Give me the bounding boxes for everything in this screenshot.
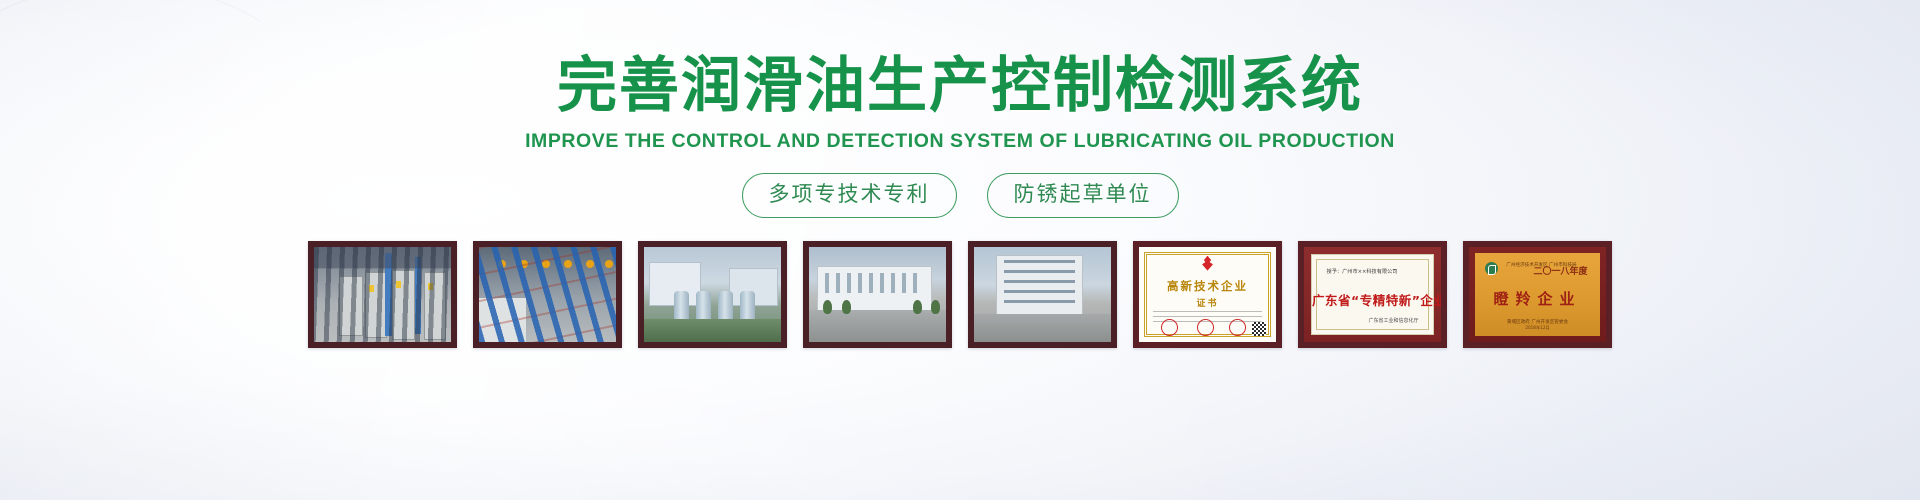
certificate-awarded-to: 授予：广州市××科技有限公司 xyxy=(1327,268,1419,275)
certificate-heading: 瞪羚企业 xyxy=(1475,288,1600,309)
badge-patents[interactable]: 多项专技术专利 xyxy=(742,173,957,218)
thumbnail-image xyxy=(314,247,451,342)
qr-code-icon xyxy=(1252,322,1266,336)
thumbnail-image xyxy=(974,247,1111,342)
certificate-subheading: 证书 xyxy=(1139,296,1276,309)
certificate-year: 二〇一八年度 xyxy=(1533,264,1587,277)
gallery-item-photo-factory-workshop[interactable] xyxy=(803,241,952,348)
certificate-issuer: 广东省工业和信息化厅 xyxy=(1368,317,1418,324)
gallery-item-photo-office-building[interactable] xyxy=(968,241,1117,348)
certificate-issue-date: 2018年12月 xyxy=(1475,325,1600,331)
development-zone-logo-icon xyxy=(1485,262,1498,275)
certificate-heading: 高新技术企业 xyxy=(1139,278,1276,294)
thumbnail-image xyxy=(479,247,616,342)
gallery-strip: 高新技术企业 证书 授予：广州市××科技有限公司 广东省“专精特新”企业 广东省… xyxy=(308,241,1612,348)
banner-badges: 多项专技术专利 防锈起草单位 xyxy=(742,173,1179,218)
certificate-heading: 广东省“专精特新”企业 xyxy=(1312,290,1433,309)
gallery-item-photo-storage-tanks[interactable] xyxy=(638,241,787,348)
plaque-plate: 授予：广州市××科技有限公司 广东省“专精特新”企业 广东省工业和信息化厅 xyxy=(1311,254,1434,335)
gallery-item-certificate-guangdong-specialized-new[interactable]: 授予：广州市××科技有限公司 广东省“专精特新”企业 广东省工业和信息化厅 xyxy=(1298,241,1447,348)
banner-subtitle: IMPROVE THE CONTROL AND DETECTION SYSTEM… xyxy=(525,130,1395,153)
certificate-image: 广州经济技术开发区 广州市科技局 二〇一八年度 瞪羚企业 黄埔区政府 广州开发区… xyxy=(1469,247,1606,342)
certificate-image: 高新技术企业 证书 xyxy=(1139,247,1276,342)
badge-antirust-standard[interactable]: 防锈起草单位 xyxy=(987,173,1179,218)
gallery-item-certificate-high-tech-enterprise[interactable]: 高新技术企业 证书 xyxy=(1133,241,1282,348)
thumbnail-image xyxy=(809,247,946,342)
banner-title: 完善润滑油生产控制检测系统 xyxy=(557,56,1363,116)
plaque-plate: 广州经济技术开发区 广州市科技局 二〇一八年度 瞪羚企业 黄埔区政府 广州开发区… xyxy=(1475,253,1600,336)
gallery-item-photo-production-control-cabinets[interactable] xyxy=(308,241,457,348)
hero-banner: 完善润滑油生产控制检测系统 IMPROVE THE CONTROL AND DE… xyxy=(0,0,1920,500)
thumbnail-image xyxy=(644,247,781,342)
banner-content: 完善润滑油生产控制检测系统 IMPROVE THE CONTROL AND DE… xyxy=(0,0,1920,500)
stamp-seal-icon xyxy=(1197,319,1214,336)
certificate-image: 授予：广州市××科技有限公司 广东省“专精特新”企业 广东省工业和信息化厅 xyxy=(1304,247,1441,342)
gallery-item-photo-blue-pipe-manifold[interactable] xyxy=(473,241,622,348)
gallery-item-certificate-gazelle-enterprise[interactable]: 广州经济技术开发区 广州市科技局 二〇一八年度 瞪羚企业 黄埔区政府 广州开发区… xyxy=(1463,241,1612,348)
